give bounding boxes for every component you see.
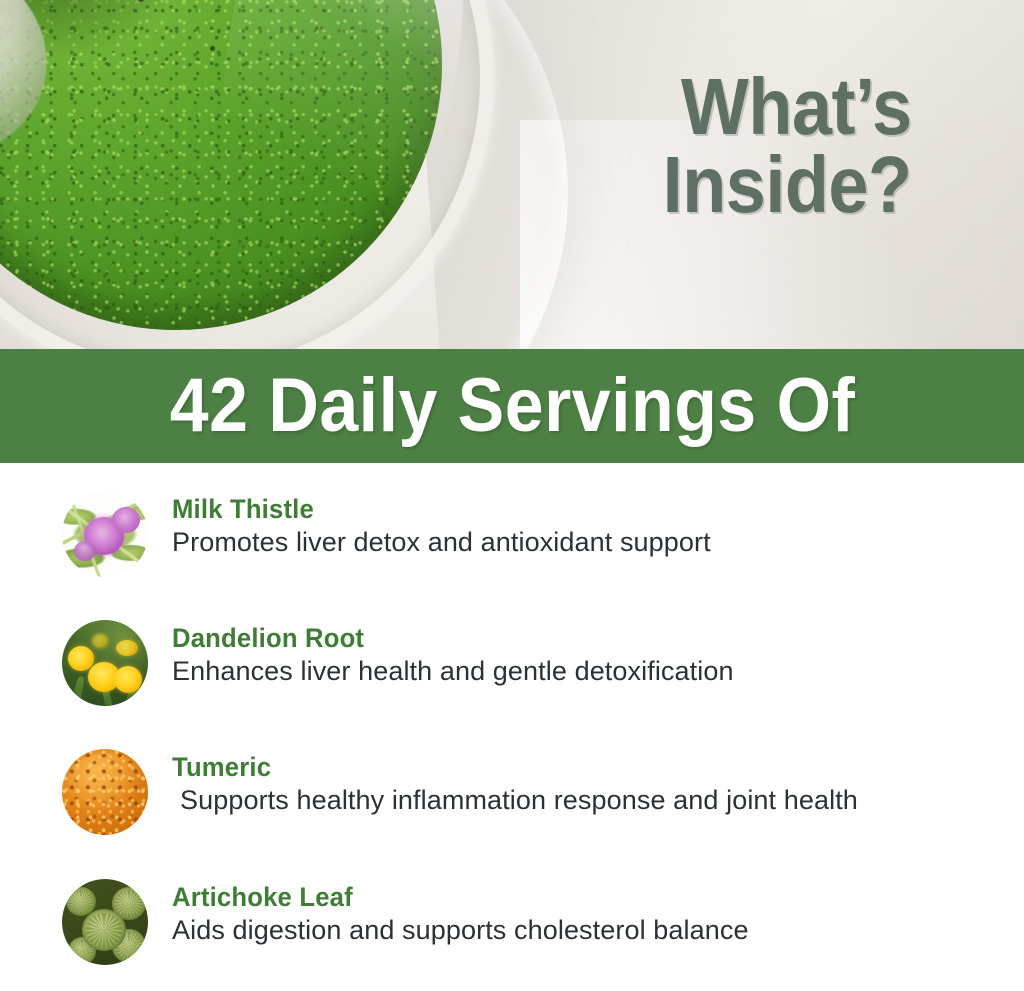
dandelion-icon [62,620,148,706]
list-item: Milk Thistle Promotes liver detox and an… [0,463,1024,593]
hero-section: What’s Inside? [0,0,1024,349]
artichoke-icon [62,879,148,965]
page-title: What’s Inside? [663,68,912,225]
turmeric-powder-icon [62,749,148,835]
list-item-body: Dandelion Root Enhances liver health and… [172,624,1012,688]
servings-banner-text: 42 Daily Servings Of [169,368,854,444]
dandelion-root-thumbnail [62,620,148,706]
list-item-body: Tumeric Supports healthy inflammation re… [172,753,1012,817]
list-item: Dandelion Root Enhances liver health and… [0,592,1024,722]
ingredient-name: Artichoke Leaf [172,883,970,911]
milk-thistle-thumbnail [62,491,148,577]
list-item-body: Milk Thistle Promotes liver detox and an… [172,495,1012,559]
list-item: Artichoke Leaf Aids digestion and suppor… [0,851,1024,981]
milk-thistle-icon [62,491,148,577]
green-powder [0,0,442,330]
tumeric-thumbnail [62,749,148,835]
powder-speck [210,46,215,51]
green-powder-jar-photo [0,0,568,349]
ingredient-description: Aids digestion and supports cholesterol … [172,914,1012,946]
ingredient-description: Supports healthy inflammation response a… [172,784,1012,816]
whats-inside-infographic: What’s Inside? 42 Daily Servings Of Milk… [0,0,1024,991]
ingredient-description: Enhances liver health and gentle detoxif… [172,655,1012,687]
ingredient-name: Dandelion Root [172,624,970,652]
ingredient-name: Tumeric [172,753,970,781]
artichoke-leaf-thumbnail [62,879,148,965]
ingredient-list: Milk Thistle Promotes liver detox and an… [0,463,1024,991]
list-item-body: Artichoke Leaf Aids digestion and suppor… [172,883,1012,947]
ingredient-name: Milk Thistle [172,495,970,523]
list-item: Tumeric Supports healthy inflammation re… [0,721,1024,851]
servings-banner: 42 Daily Servings Of [0,349,1024,463]
ingredient-description: Promotes liver detox and antioxidant sup… [172,526,1012,558]
